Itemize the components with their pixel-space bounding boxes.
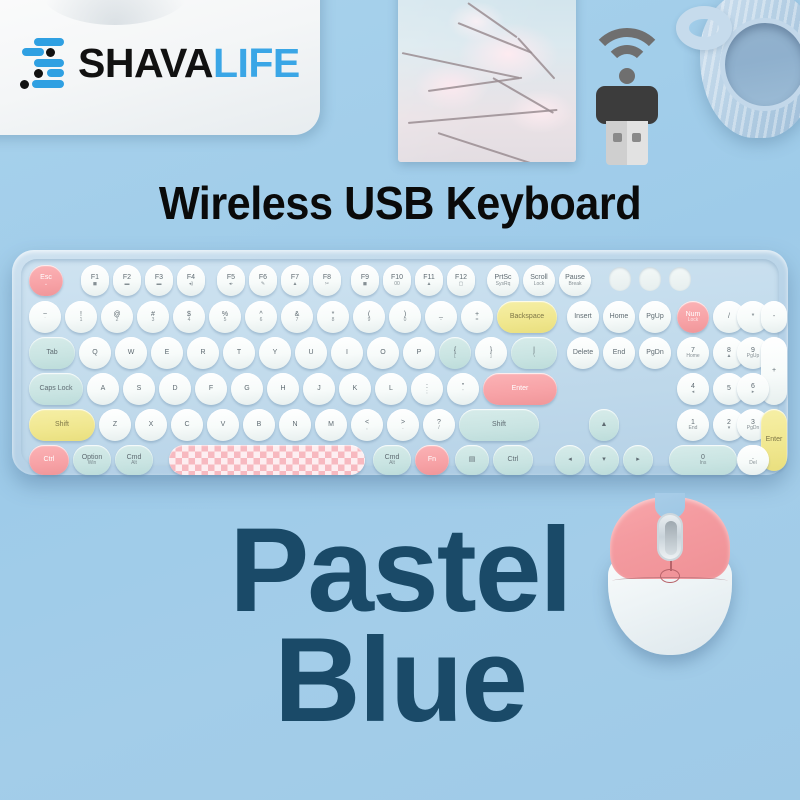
key-u[interactable]: U xyxy=(295,337,327,369)
key-[interactable]: ▾ xyxy=(589,445,619,475)
key-sublabel: ◼ xyxy=(363,282,367,287)
key-sublabel: = xyxy=(476,318,479,323)
key-f2[interactable]: F2▬ xyxy=(113,265,141,296)
key-label: R xyxy=(200,349,205,356)
key-num[interactable]: NumLock xyxy=(677,301,709,333)
key-label: Q xyxy=(92,349,97,356)
key-6[interactable]: 6▸ xyxy=(737,373,769,405)
key-label: Y xyxy=(273,349,278,356)
key-sublabel: ⌄ xyxy=(44,282,48,287)
key-sublabel: End xyxy=(689,426,698,431)
key-label: PgDn xyxy=(646,349,664,356)
key-f12[interactable]: F12▢ xyxy=(447,265,475,296)
key-0[interactable]: 0Ins xyxy=(669,445,737,475)
key-[interactable]: !1 xyxy=(65,301,97,333)
key-sublabel: Win xyxy=(88,461,97,466)
key-fn[interactable]: Fn xyxy=(415,445,449,475)
key-function-row[interactable] xyxy=(639,267,661,291)
key-label: ▸ xyxy=(636,456,640,463)
key-caps-lock[interactable]: Caps Lock xyxy=(29,373,83,405)
key-label: Delete xyxy=(573,349,593,356)
shavalife-mark-icon xyxy=(18,34,64,92)
key-label: 5 xyxy=(727,385,731,392)
usb-wifi-dongle-icon xyxy=(574,28,680,176)
key-f5[interactable]: F5◂- xyxy=(217,265,245,296)
key-[interactable]: ▲ xyxy=(589,409,619,441)
key-pgdn[interactable]: PgDn xyxy=(639,337,671,369)
key-esc[interactable]: Esc⌄ xyxy=(29,265,63,296)
key-label: H xyxy=(280,385,285,392)
dongle-body xyxy=(596,86,658,124)
key-shift[interactable]: Shift xyxy=(29,409,95,441)
key-sublabel: ; xyxy=(426,390,427,395)
key-function-row[interactable] xyxy=(609,267,631,291)
key-sublabel: 2 xyxy=(116,318,119,323)
key-label: - xyxy=(773,313,775,320)
key-d[interactable]: D xyxy=(159,373,191,405)
sakura-blossom-poster xyxy=(398,0,576,162)
key-r[interactable]: R xyxy=(187,337,219,369)
key-b[interactable]: B xyxy=(243,409,275,441)
key-label: D xyxy=(172,385,177,392)
key-label: O xyxy=(380,349,385,356)
product-banner: SHAVALIFE Wireless USB Keyboard Esc⌄F1◼F… xyxy=(0,0,800,800)
key-label: Fn xyxy=(428,456,436,463)
key-[interactable]: &7 xyxy=(281,301,313,333)
key-label: ▤ xyxy=(469,456,476,463)
key-label: P xyxy=(417,349,422,356)
key-sublabel: 5 xyxy=(224,318,227,323)
key-[interactable]: {[ xyxy=(439,337,471,369)
key-[interactable]: ◂ xyxy=(555,445,585,475)
key-v[interactable]: V xyxy=(207,409,239,441)
key-label: U xyxy=(308,349,313,356)
key-s[interactable]: S xyxy=(123,373,155,405)
key-sublabel: ▲ xyxy=(427,282,432,287)
key-[interactable]: (9 xyxy=(353,301,385,333)
key-[interactable]: >. xyxy=(387,409,419,441)
key-label: I xyxy=(346,349,348,356)
key-[interactable]: .Del xyxy=(737,445,769,475)
key-sublabel: 9 xyxy=(368,318,371,323)
key-sublabel: PgDn xyxy=(747,426,760,431)
key-w[interactable]: W xyxy=(115,337,147,369)
key-sublabel: ◂- xyxy=(229,282,233,287)
keyboard-product-image: Esc⌄F1◼F2▬F3▬F4◂)F5◂-F6✎F7▲F8✂F9◼F1000F1… xyxy=(12,250,788,475)
key-f9[interactable]: F9◼ xyxy=(351,265,379,296)
key-[interactable]: *8 xyxy=(317,301,349,333)
key-h[interactable]: H xyxy=(267,373,299,405)
key-sublabel: PgUp xyxy=(747,354,760,359)
wifi-dot-icon xyxy=(619,68,635,84)
key-sublabel: ◂) xyxy=(189,282,193,287)
key-sublabel: ✂ xyxy=(325,282,329,287)
key-cmd[interactable]: CmdAlt xyxy=(115,445,153,475)
key-[interactable]: |\ xyxy=(511,337,557,369)
key-e[interactable]: E xyxy=(151,337,183,369)
key-label: ▾ xyxy=(602,456,606,463)
key-[interactable]: :; xyxy=(411,373,443,405)
key-pgup[interactable]: PgUp xyxy=(639,301,671,333)
key-f8[interactable]: F8✂ xyxy=(313,265,341,296)
key-label: * xyxy=(752,313,755,320)
key-o[interactable]: O xyxy=(367,337,399,369)
key-sublabel: ' xyxy=(463,390,464,395)
key-f11[interactable]: F11▲ xyxy=(415,265,443,296)
key-sublabel: Alt xyxy=(131,461,137,466)
key-sublabel: 0 xyxy=(404,318,407,323)
key-shift[interactable]: Shift xyxy=(459,409,539,441)
key-[interactable]: ~` xyxy=(29,301,61,333)
key-label: Ctrl xyxy=(44,456,55,463)
key-ctrl[interactable]: Ctrl xyxy=(29,445,69,475)
key-label: Shift xyxy=(492,421,506,428)
key-[interactable]: $4 xyxy=(173,301,205,333)
key-f4[interactable]: F4◂) xyxy=(177,265,205,296)
key-label: / xyxy=(728,313,730,320)
key-sublabel: Lock xyxy=(688,318,699,323)
key-enter[interactable]: Enter xyxy=(483,373,557,405)
key-f7[interactable]: F7▲ xyxy=(281,265,309,296)
key-label: Home xyxy=(610,313,629,320)
subtitle-line-2: Blue xyxy=(0,625,800,735)
brand-logo: SHAVALIFE xyxy=(18,34,300,92)
key-[interactable]: ▸ xyxy=(623,445,653,475)
key-prtsc[interactable]: PrtScSysRq xyxy=(487,265,519,296)
key-sublabel: ▲ xyxy=(293,282,298,287)
mug-handle xyxy=(676,6,732,50)
key-g[interactable]: G xyxy=(231,373,263,405)
key-tab[interactable]: Tab xyxy=(29,337,75,369)
key-x[interactable]: X xyxy=(135,409,167,441)
key-f6[interactable]: F6✎ xyxy=(249,265,277,296)
key-sublabel: Home xyxy=(686,354,699,359)
plug-hole-left xyxy=(613,133,622,142)
key-sublabel: ◂ xyxy=(692,390,695,395)
key-[interactable]: )0 xyxy=(389,301,421,333)
key-sublabel: Del xyxy=(749,461,757,466)
brand-wordmark: SHAVALIFE xyxy=(78,43,300,84)
key-label: ▲ xyxy=(601,421,608,428)
key-option[interactable]: OptionWin xyxy=(73,445,111,475)
key-l[interactable]: L xyxy=(375,373,407,405)
mug-rim xyxy=(720,18,800,111)
key-[interactable]: "' xyxy=(447,373,479,405)
key-scroll[interactable]: ScrollLock xyxy=(523,265,555,296)
key-sublabel: ▾ xyxy=(728,426,731,431)
key-sublabel: SysRq xyxy=(496,282,511,287)
key-sublabel: ✎ xyxy=(261,282,265,287)
key-n[interactable]: N xyxy=(279,409,311,441)
plug-hole-right xyxy=(632,133,641,142)
key-j[interactable]: J xyxy=(303,373,335,405)
key-label: G xyxy=(244,385,249,392)
key-label: F xyxy=(209,385,213,392)
key-sublabel: ◼ xyxy=(93,282,97,287)
key-ctrl[interactable]: Ctrl xyxy=(493,445,533,475)
page-title: Wireless USB Keyboard xyxy=(24,176,776,230)
key-a[interactable]: A xyxy=(87,373,119,405)
key-sublabel: - xyxy=(440,318,442,323)
key-[interactable]: ?/ xyxy=(423,409,455,441)
key-[interactable]: - xyxy=(761,301,787,333)
key-sublabel: 8 xyxy=(332,318,335,323)
key-sublabel: ▬ xyxy=(125,282,130,287)
key-sublabel: ▢ xyxy=(459,282,464,287)
key-q[interactable]: Q xyxy=(79,337,111,369)
key-[interactable]: ^6 xyxy=(245,301,277,333)
key-label: T xyxy=(237,349,241,356)
key-[interactable]: <, xyxy=(351,409,383,441)
brand-wordmark-primary: SHAVA xyxy=(78,40,213,86)
key-[interactable]: += xyxy=(461,301,493,333)
key-z[interactable]: Z xyxy=(99,409,131,441)
key-4[interactable]: 4◂ xyxy=(677,373,709,405)
key-end[interactable]: End xyxy=(603,337,635,369)
key-sublabel: 4 xyxy=(188,318,191,323)
key-t[interactable]: T xyxy=(223,337,255,369)
key-sublabel: Break xyxy=(568,282,581,287)
key-sublabel: \ xyxy=(533,354,534,359)
key-k[interactable]: K xyxy=(339,373,371,405)
key-m[interactable]: M xyxy=(315,409,347,441)
key-label: J xyxy=(317,385,321,392)
key-f1[interactable]: F1◼ xyxy=(81,265,109,296)
key-label: X xyxy=(149,421,154,428)
key-label: A xyxy=(101,385,106,392)
key-[interactable]: %5 xyxy=(209,301,241,333)
key-f[interactable]: F xyxy=(195,373,227,405)
key-label: Shift xyxy=(55,421,69,428)
key-label: N xyxy=(292,421,297,428)
key-label: Ctrl xyxy=(508,456,519,463)
key-label: Enter xyxy=(766,436,783,443)
key-sublabel: 3 xyxy=(152,318,155,323)
key-f10[interactable]: F1000 xyxy=(383,265,411,296)
key-sublabel: / xyxy=(438,426,439,431)
key-sublabel: 6 xyxy=(260,318,263,323)
key-pause[interactable]: PauseBreak xyxy=(559,265,591,296)
key-sublabel: ] xyxy=(490,354,491,359)
key-label: M xyxy=(328,421,334,428)
key-sublabel: ▲ xyxy=(727,354,732,359)
key-bottom-row[interactable] xyxy=(169,445,365,475)
key-label: W xyxy=(128,349,135,356)
key-label: ◂ xyxy=(568,456,572,463)
key-[interactable]: ▤ xyxy=(455,445,489,475)
key-backspace[interactable]: Backspace xyxy=(497,301,557,333)
key-sublabel: . xyxy=(402,426,403,431)
key-sublabel: [ xyxy=(454,354,455,359)
key-function-row[interactable] xyxy=(669,267,691,291)
key-label: + xyxy=(772,367,776,374)
dongle-usb-plug xyxy=(606,121,648,165)
key-label: S xyxy=(137,385,142,392)
key-sublabel: Ins xyxy=(700,461,707,466)
key-i[interactable]: I xyxy=(331,337,363,369)
key-sublabel: ▬ xyxy=(157,282,162,287)
key-label: E xyxy=(165,349,170,356)
key-label: C xyxy=(184,421,189,428)
key-[interactable]: _- xyxy=(425,301,457,333)
key-sublabel: 1 xyxy=(80,318,83,323)
key-sublabel: 7 xyxy=(296,318,299,323)
key-label: Backspace xyxy=(510,313,544,320)
brand-wordmark-secondary: LIFE xyxy=(213,40,300,86)
key-[interactable]: }] xyxy=(475,337,507,369)
subtitle: Pastel Blue xyxy=(0,515,800,736)
key-c[interactable]: C xyxy=(171,409,203,441)
key-home[interactable]: Home xyxy=(603,301,635,333)
key-label: L xyxy=(389,385,393,392)
key-delete[interactable]: Delete xyxy=(567,337,599,369)
key-cmd[interactable]: CmdAlt xyxy=(373,445,411,475)
key-y[interactable]: Y xyxy=(259,337,291,369)
key-label: Caps Lock xyxy=(39,385,72,392)
key-label: PgUp xyxy=(646,313,664,320)
key-sublabel: , xyxy=(366,426,367,431)
key-p[interactable]: P xyxy=(403,337,435,369)
key-7[interactable]: 7Home xyxy=(677,337,709,369)
key-label: Insert xyxy=(574,313,592,320)
keyboard-key-deck: Esc⌄F1◼F2▬F3▬F4◂)F5◂-F6✎F7▲F8✂F9◼F1000F1… xyxy=(21,259,779,466)
key-label: Enter xyxy=(512,385,529,392)
key-[interactable]: @2 xyxy=(101,301,133,333)
key-sublabel: ▸ xyxy=(752,390,755,395)
key-[interactable]: #3 xyxy=(137,301,169,333)
key-label: Tab xyxy=(46,349,57,356)
key-label: B xyxy=(257,421,262,428)
key-sublabel: Lock xyxy=(534,282,545,287)
key-insert[interactable]: Insert xyxy=(567,301,599,333)
key-sublabel: 00 xyxy=(394,282,400,287)
key-f3[interactable]: F3▬ xyxy=(145,265,173,296)
key-label: K xyxy=(353,385,358,392)
key-sublabel: Alt xyxy=(389,461,395,466)
key-label: End xyxy=(613,349,625,356)
key-label: V xyxy=(221,421,226,428)
key-sublabel: ` xyxy=(44,318,46,323)
key-label: Z xyxy=(113,421,117,428)
subtitle-line-1: Pastel xyxy=(0,515,800,625)
key-1[interactable]: 1End xyxy=(677,409,709,441)
